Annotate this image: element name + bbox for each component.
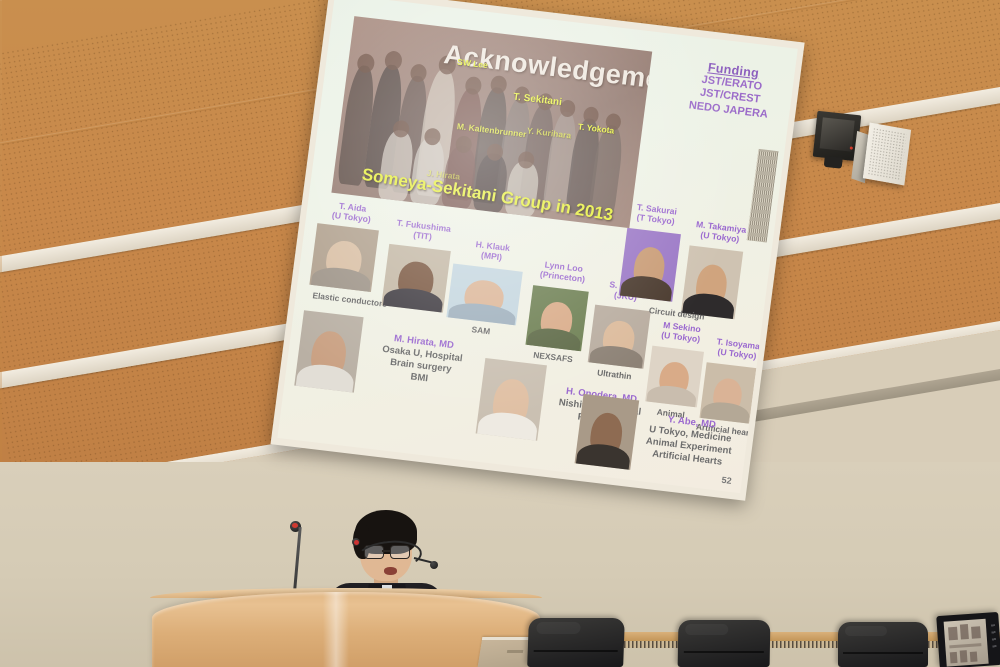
portrait [699,362,756,423]
person-name: T. Isoyama (U Tokyo) [706,336,770,363]
person-name: Lynn Loo (Princeton) [524,258,602,286]
portrait [525,285,588,351]
medical-block: M. Hirata, MD Osaka U, Hospital Brain su… [360,330,483,392]
audience-chair [678,620,771,667]
portrait [446,264,522,326]
slide-number: 52 [721,475,732,486]
person-name: M Sekino (U Tokyo) [649,319,713,346]
ceiling-speaker-icon [863,123,911,186]
audience-chair [838,622,928,667]
audience-chair [527,618,625,667]
person-name: M. Takamiya (U Tokyo) [684,219,756,247]
portrait [575,394,640,470]
funding-block: Funding JST/ERATO JST/CREST NEDO JAPERA [673,57,789,124]
group-photo: Acknowledgements SW Lee T. Sekitani T. Y… [331,16,652,228]
portrait-caption: Ultrathin [582,366,647,383]
lecture-hall-photo: Acknowledgements SW Lee T. Sekitani T. Y… [0,0,1000,667]
presentation-slide: Acknowledgements SW Lee T. Sekitani T. Y… [277,0,797,493]
person-name: T. Fukushima (TIT) [382,217,464,246]
person-name: T. Sakurai (T Tokyo) [624,202,688,229]
person-name: H. Klauk (MPI) [454,238,530,266]
portrait [476,358,547,441]
portrait-caption: SAM [450,322,511,339]
person-name: T. Aida (U Tokyo) [316,199,388,227]
portrait [681,245,743,319]
portrait [619,228,681,302]
portrait [309,223,379,292]
portrait [294,310,363,392]
projection-screen: Acknowledgements SW Lee T. Sekitani T. Y… [268,0,816,518]
side-monitor[interactable] [936,612,1000,667]
portrait [381,244,451,313]
podium-microphone-windscreen [292,523,298,528]
